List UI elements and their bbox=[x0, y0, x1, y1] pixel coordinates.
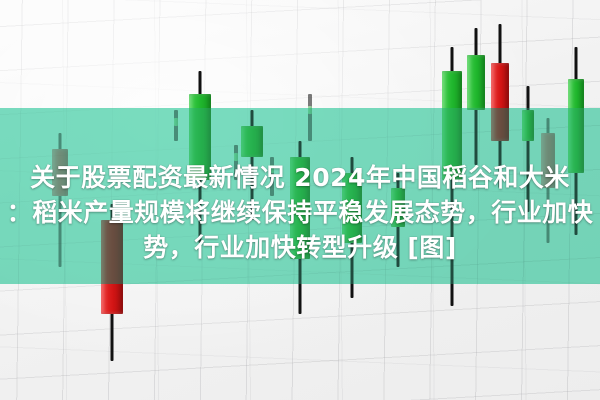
screenshot-canvas: 关于股票配资最新情况 2024年中国稻谷和大米 ：稻米产量规模将继续保持平稳发展… bbox=[0, 0, 600, 400]
candle-body bbox=[467, 55, 485, 110]
mint-overlay-band-tint bbox=[0, 108, 600, 284]
